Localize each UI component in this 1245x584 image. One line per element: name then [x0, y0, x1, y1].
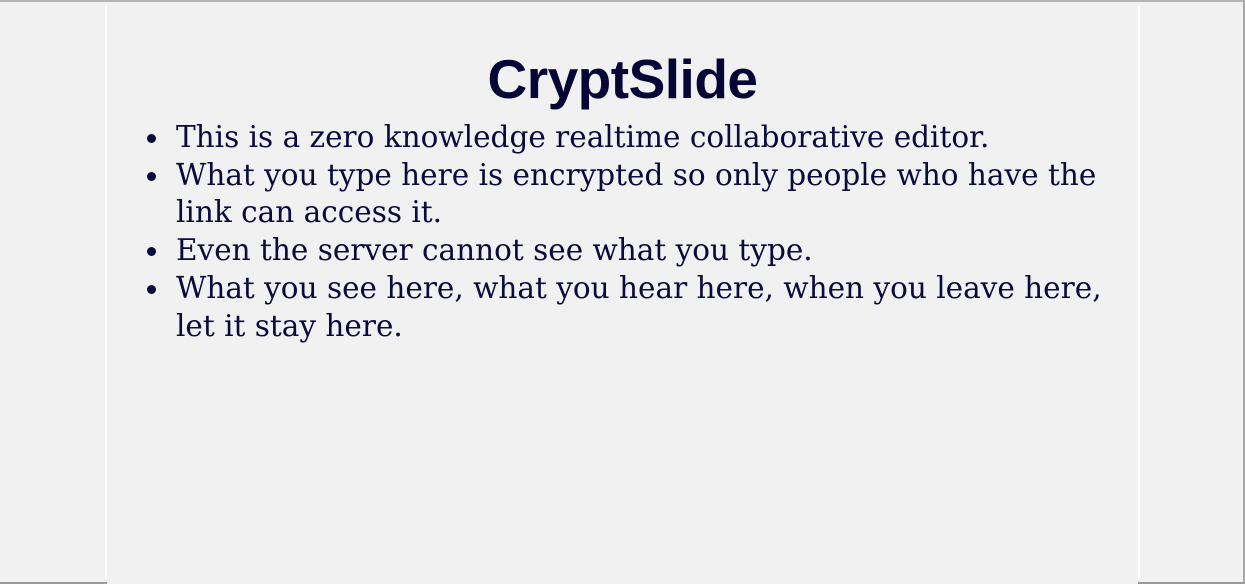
- list-item[interactable]: What you type here is encrypted so only …: [107, 157, 1112, 232]
- slide-canvas[interactable]: CryptSlide This is a zero knowledge real…: [107, 6, 1138, 584]
- slide-viewer-frame: CryptSlide This is a zero knowledge real…: [0, 0, 1245, 584]
- bullet-text: What you see here, what you hear here, w…: [176, 270, 1112, 345]
- slide-right-divider: [1138, 6, 1140, 580]
- bullet-dot-icon: [147, 247, 156, 256]
- bullet-text: This is a zero knowledge realtime collab…: [176, 119, 1112, 157]
- list-item[interactable]: This is a zero knowledge realtime collab…: [107, 119, 1112, 157]
- bullet-text: What you type here is encrypted so only …: [176, 157, 1112, 232]
- list-item[interactable]: Even the server cannot see what you type…: [107, 232, 1112, 270]
- bullet-text: Even the server cannot see what you type…: [176, 232, 1112, 270]
- slide-bullet-list: This is a zero knowledge realtime collab…: [107, 119, 1112, 345]
- bullet-dot-icon: [147, 134, 156, 143]
- slide-title[interactable]: CryptSlide: [107, 48, 1138, 110]
- bullet-dot-icon: [147, 285, 156, 294]
- bullet-dot-icon: [147, 172, 156, 181]
- right-gutter: [1140, 2, 1243, 582]
- list-item[interactable]: What you see here, what you hear here, w…: [107, 270, 1112, 345]
- left-gutter: [0, 2, 105, 582]
